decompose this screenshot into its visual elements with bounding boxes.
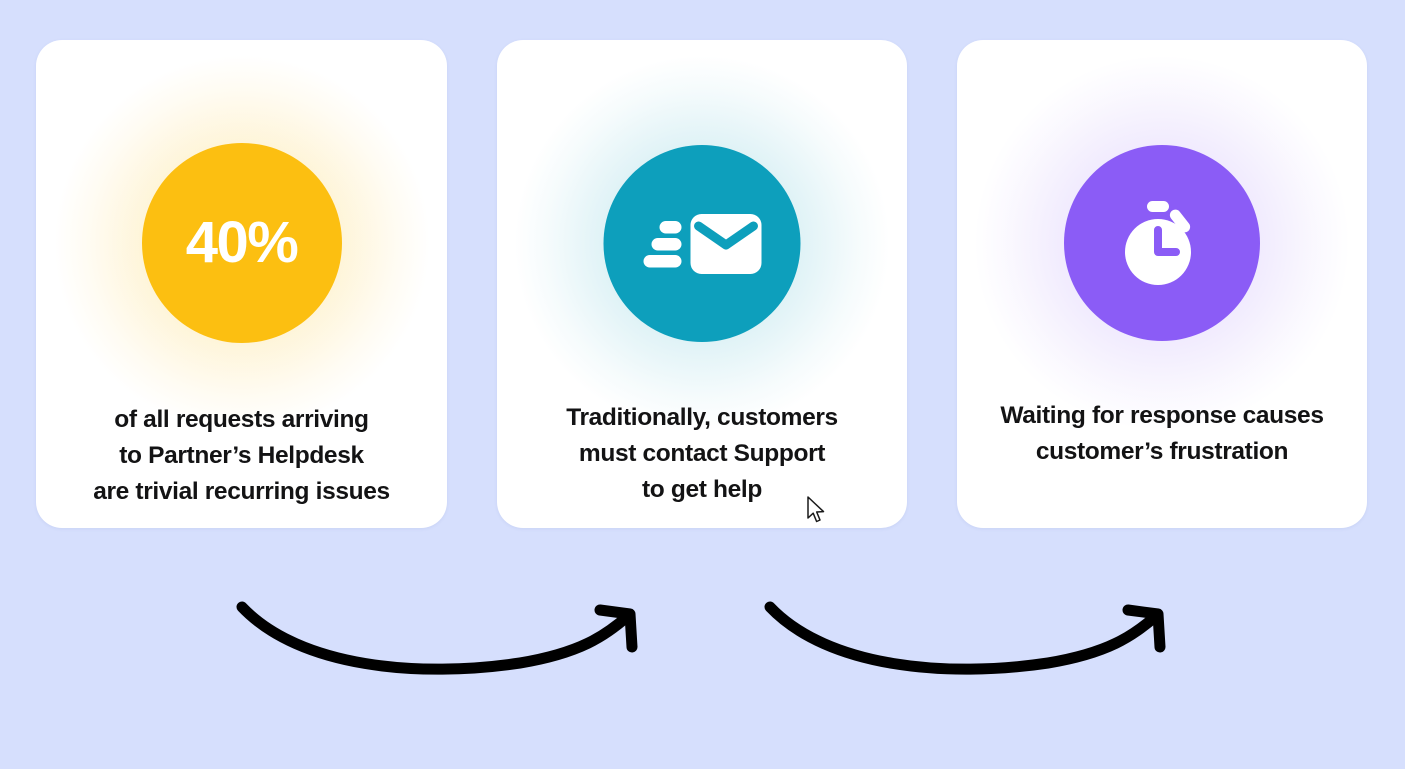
slide-canvas: 40% of all requests arriving to Partner’…	[0, 0, 1405, 769]
caption-line: are trivial recurring issues	[54, 474, 429, 510]
caption-line: must contact Support	[515, 436, 889, 472]
stat-value: 40%	[186, 214, 298, 272]
caption-line: to get help	[515, 472, 889, 508]
cards-row: 40% of all requests arriving to Partner’…	[0, 0, 1405, 570]
support-contact-card[interactable]: Traditionally, customers must contact Su…	[497, 40, 907, 528]
stopwatch-icon	[1064, 145, 1260, 341]
statistic-card[interactable]: 40% of all requests arriving to Partner’…	[36, 40, 447, 528]
arrow-card1-to-card2	[242, 607, 632, 669]
envelope-send-icon	[604, 145, 801, 342]
waiting-frustration-card[interactable]: Waiting for response causes customer’s f…	[957, 40, 1367, 528]
caption-line: to Partner’s Helpdesk	[54, 438, 429, 474]
percentage-stat-circle-icon: 40%	[142, 143, 342, 343]
caption-line: customer’s frustration	[975, 434, 1349, 470]
card-caption: of all requests arriving to Partner’s He…	[36, 402, 447, 510]
mouse-pointer-icon	[806, 496, 828, 526]
card-caption: Traditionally, customers must contact Su…	[497, 400, 907, 508]
arrow-card2-to-card3	[770, 607, 1160, 669]
caption-line: of all requests arriving	[54, 402, 429, 438]
card-caption: Waiting for response causes customer’s f…	[957, 398, 1367, 470]
caption-line: Waiting for response causes	[975, 398, 1349, 434]
caption-line: Traditionally, customers	[515, 400, 889, 436]
